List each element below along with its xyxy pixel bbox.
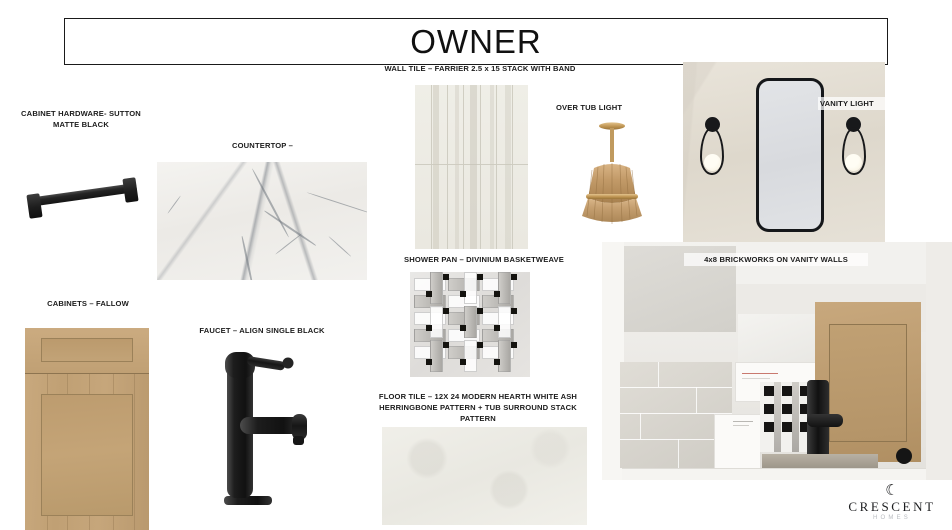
photo-faucet-spout [807, 414, 843, 427]
caption-shower-pan: SHOWER PAN – DIVINIUM BASKETWEAVE [378, 254, 590, 265]
caption-wall-tile: WALL TILE – FARRIER 2.5 x 15 STACK WITH … [368, 63, 592, 74]
rattan-chandelier-illustration [558, 112, 666, 232]
sample-countertop [157, 162, 367, 280]
sample-over-tub-light [558, 112, 666, 232]
photo-shelf-plaque [762, 454, 878, 468]
materials-photo-scene [602, 242, 952, 480]
sconce-globe [845, 154, 862, 171]
crescent-moon-icon: ☾ [838, 484, 946, 499]
page-title: OWNER [410, 23, 542, 61]
caption-faucet: FAUCET – ALIGN SINGLE BLACK [172, 325, 352, 336]
pull-handle-bar [34, 183, 137, 206]
sample-shower-pan [410, 272, 530, 377]
cabinet-drawer-inset [41, 338, 133, 362]
selection-board: OWNER CABINET HARDWARE- SUTTON MATTE BLA… [0, 0, 952, 530]
floor-tile-texture [382, 427, 587, 525]
sconce-globe [704, 154, 721, 171]
cabinet-door-inset [41, 394, 133, 516]
board-title-box: OWNER [64, 18, 888, 65]
caption-floor-tile: FLOOR TILE – 12X 24 MODERN HEARTH WHITE … [362, 391, 594, 424]
sample-floor-tile [382, 427, 587, 525]
caption-floor-tile-line2: HERRINGBONE PATTERN + TUB SURROUND STACK [362, 402, 594, 413]
cabinet-door-face [25, 328, 149, 530]
vanity-mirror [756, 78, 825, 232]
photo-marble-slab-sample [738, 314, 818, 366]
caption-brickworks: 4x8 BRICKWORKS ON VANITY WALLS [684, 253, 868, 266]
caption-floor-tile-line1: FLOOR TILE – 12X 24 MODERN HEARTH WHITE … [362, 391, 594, 402]
sample-faucet [196, 338, 330, 516]
photo-knob-sample [896, 448, 912, 464]
vanity-sconce-left [699, 117, 725, 179]
caption-cabinet-hardware: CABINET HARDWARE- SUTTON MATTE BLACK [8, 108, 154, 130]
caption-cabinet-hardware-line1: CABINET HARDWARE- SUTTON [8, 108, 154, 119]
photo-shelf-edge [622, 468, 926, 480]
caption-floor-tile-line3: PATTERN [362, 413, 594, 424]
faucet-illustration [196, 338, 330, 516]
pull-handle-right-post [122, 177, 138, 203]
sample-cabinet-door [25, 328, 149, 530]
caption-cabinet-hardware-line2: MATTE BLACK [8, 119, 154, 130]
stack-tile-texture [415, 85, 528, 249]
vanity-wall-tile-backdrop [683, 62, 885, 245]
photo-wall-right [926, 242, 952, 480]
caption-vanity-light: VANITY LIGHT [818, 97, 892, 110]
sample-materials-photo [602, 242, 952, 480]
photo-mosaic-sample [760, 382, 814, 452]
sample-cabinet-hardware [20, 140, 142, 265]
caption-cabinets: CABINETS – FALLOW [18, 298, 158, 309]
caption-countertop: COUNTERTOP – [175, 140, 350, 151]
sample-vanity-scene [683, 62, 885, 245]
marble-slab-texture [157, 162, 367, 280]
photo-cabinet-door-sample [815, 302, 921, 462]
sample-wall-tile [415, 85, 528, 249]
basketweave-mosaic-texture [410, 272, 530, 377]
photo-spec-card-small [714, 414, 761, 470]
logo-tagline: HOMES [838, 514, 946, 523]
crescent-homes-logo: ☾ CRESCENT HOMES [838, 484, 946, 528]
logo-brand-name: CRESCENT [838, 499, 946, 514]
cabinet-drawer-front [25, 328, 149, 374]
vanity-sconce-right [841, 117, 867, 179]
